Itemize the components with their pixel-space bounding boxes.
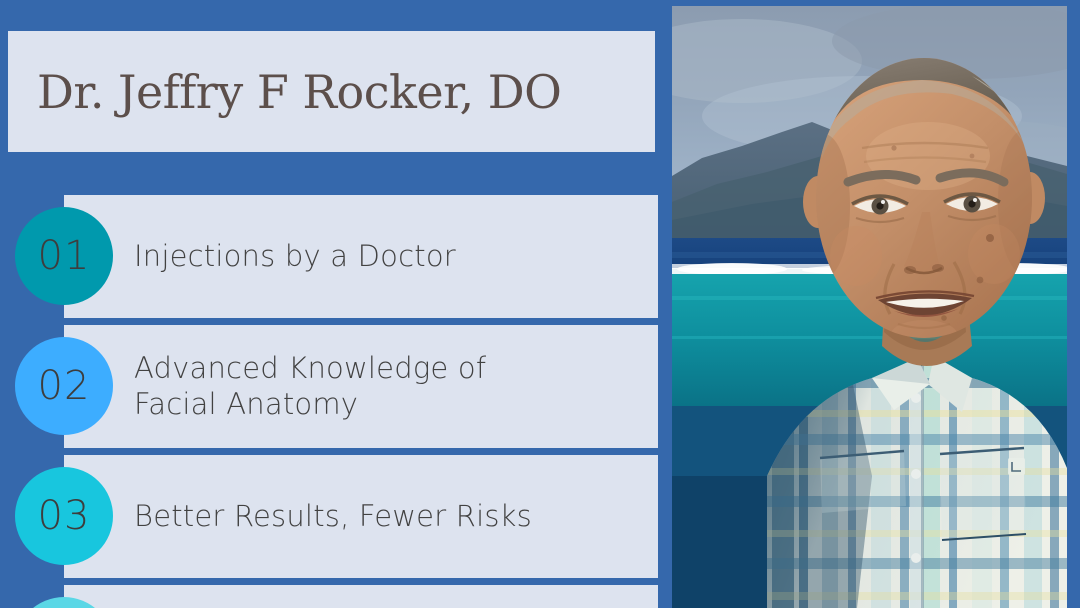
list-item-label: Advanced Knowledge of Facial Anatomy xyxy=(134,325,644,448)
page-title: Dr. Jeffry F Rocker, DO xyxy=(37,65,561,119)
list-item[interactable]: 03 Better Results, Fewer Risks xyxy=(0,455,670,578)
list-item-label xyxy=(134,585,644,608)
list-item[interactable]: 02 Advanced Knowledge of Facial Anatomy xyxy=(0,325,670,448)
list-item-number-badge: 03 xyxy=(15,467,113,565)
list-item-number-badge: 02 xyxy=(15,337,113,435)
list-item-label: Better Results, Fewer Risks xyxy=(134,455,644,578)
portrait-photo xyxy=(672,6,1067,608)
slide: Dr. Jeffry F Rocker, DO 01 Injections by… xyxy=(0,0,1080,608)
feature-list: 01 Injections by a Doctor 02 Advanced Kn… xyxy=(0,195,670,608)
list-item[interactable]: 01 Injections by a Doctor xyxy=(0,195,670,318)
list-item[interactable]: 04 xyxy=(0,585,670,608)
list-item-label: Injections by a Doctor xyxy=(134,195,644,318)
list-item-number-badge: 01 xyxy=(15,207,113,305)
title-panel: Dr. Jeffry F Rocker, DO xyxy=(8,31,655,152)
